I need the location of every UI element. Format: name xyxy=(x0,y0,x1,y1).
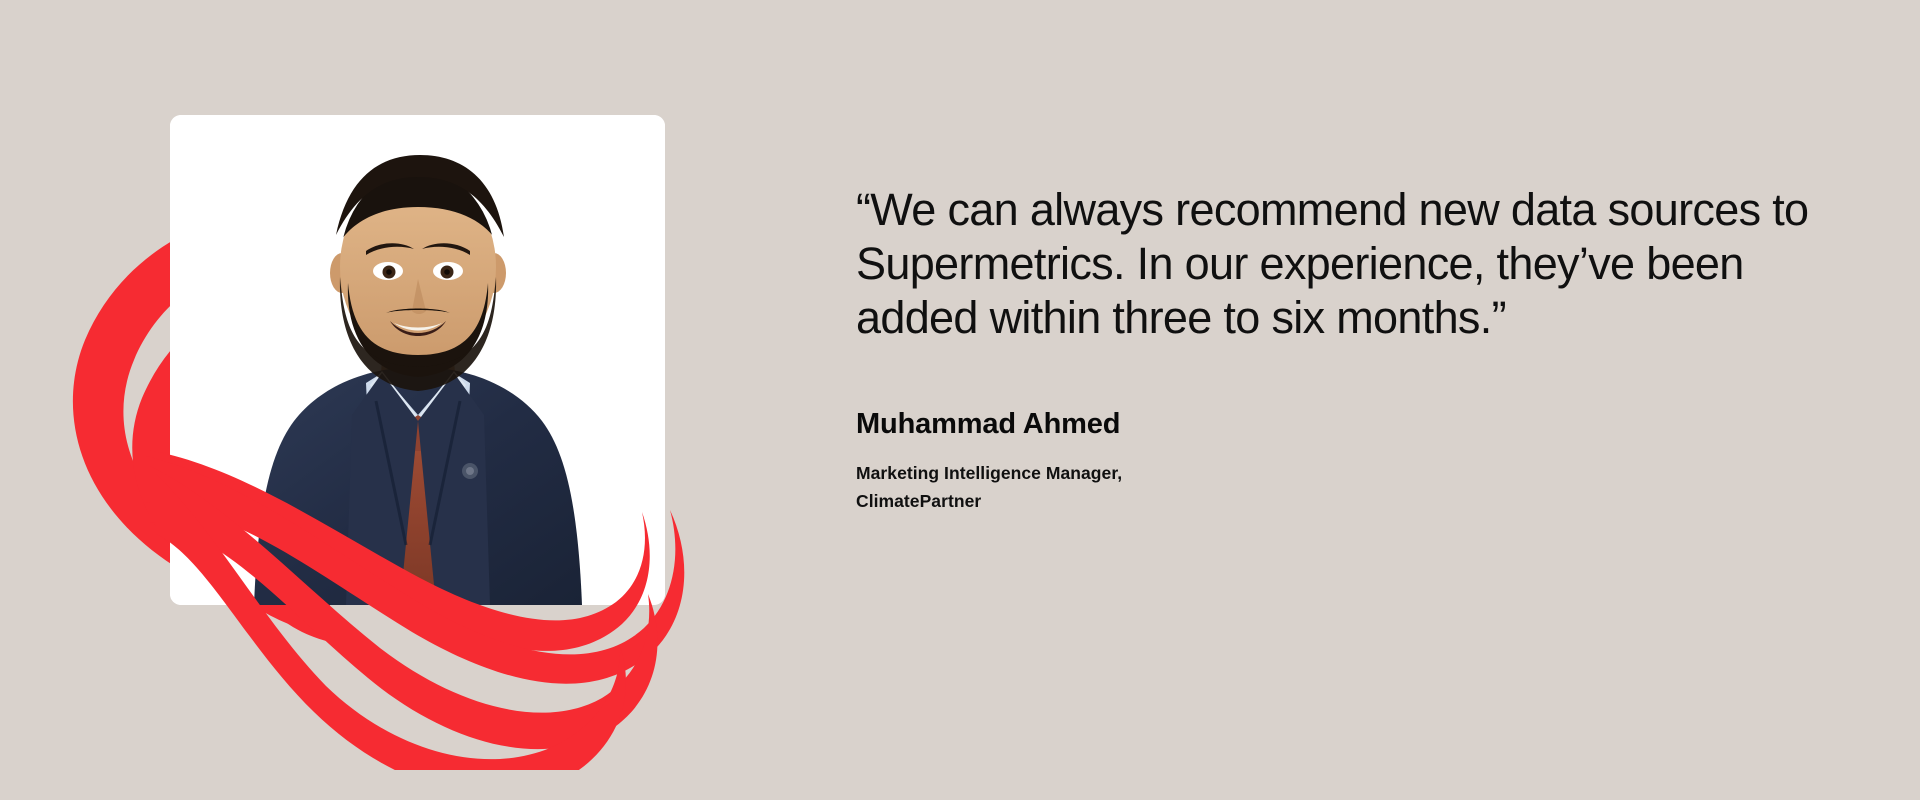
testimonial-quote: “We can always recommend new data source… xyxy=(856,183,1831,346)
person-company: ClimatePartner xyxy=(856,487,1846,515)
testimonial-visual xyxy=(0,0,800,800)
portrait-photo-card xyxy=(170,115,665,605)
testimonial-attribution: Muhammad Ahmed Marketing Intelligence Ma… xyxy=(856,406,1846,516)
testimonial-slide: “We can always recommend new data source… xyxy=(0,0,1920,800)
testimonial-content: “We can always recommend new data source… xyxy=(856,183,1846,516)
person-name: Muhammad Ahmed xyxy=(856,406,1846,442)
person-role-company: Marketing Intelligence Manager, ClimateP… xyxy=(856,459,1846,516)
person-role: Marketing Intelligence Manager, xyxy=(856,459,1846,487)
portrait-photo xyxy=(170,115,665,605)
